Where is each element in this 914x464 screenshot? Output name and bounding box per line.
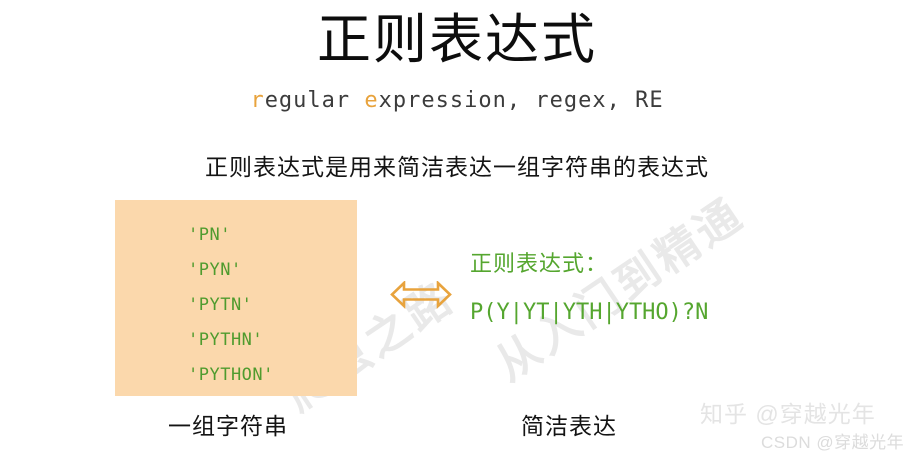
subtitle-accent-r: r <box>250 88 264 113</box>
csdn-watermark: CSDN @穿越光年 <box>761 432 904 454</box>
caption-string-set: 一组字符串 <box>168 410 288 442</box>
string-item: 'PN' <box>188 218 357 253</box>
string-item: 'PYTN' <box>188 288 357 323</box>
regex-block: 正则表达式： P(Y|YT|YTH|YTHO)?N <box>470 248 708 328</box>
string-set-box: 'PN' 'PYN' 'PYTN' 'PYTHN' 'PYTHON' <box>115 200 357 396</box>
string-item: 'PYTHON' <box>188 358 357 393</box>
page-subtitle: regular expression, regex, RE <box>0 86 914 116</box>
double-headed-arrow-icon <box>390 281 452 317</box>
caption-concise-expression: 简洁表达 <box>521 410 617 442</box>
regex-label: 正则表达式： <box>470 248 708 280</box>
page-title: 正则表达式 <box>0 8 914 72</box>
string-item: 'PYN' <box>188 253 357 288</box>
subtitle-part-2: xpression, regex, RE <box>379 88 664 113</box>
zhihu-watermark: 知乎 @穿越光年 <box>700 400 876 428</box>
string-item: 'PYTHN' <box>188 323 357 358</box>
slide-canvas: 爬虫之路 从入门到精通 正则表达式 regular expression, re… <box>0 0 914 464</box>
regex-pattern: P(Y|YT|YTH|YTHO)?N <box>470 298 708 328</box>
description-text: 正则表达式是用来简洁表达一组字符串的表达式 <box>0 150 914 184</box>
subtitle-part-1: egular <box>265 88 365 113</box>
subtitle-accent-e: e <box>364 88 378 113</box>
